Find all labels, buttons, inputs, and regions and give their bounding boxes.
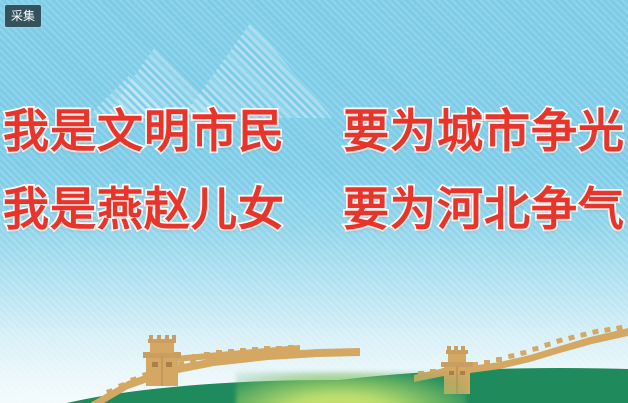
slogan-line-1-left: 我是文明市民 [3,104,285,158]
banner-screenshot: 我是文明市民 要为城市争光 我是燕赵儿女 要为河北争气 采集 [0,0,628,403]
great-wall-left-tower [143,335,181,386]
slogan-line-2-right: 要为河北争气 [343,182,625,236]
capture-button[interactable]: 采集 [4,4,42,28]
slogan-line-2-left: 我是燕赵儿女 [3,182,285,236]
slogan-line-1: 我是文明市民 要为城市争光 [0,108,628,154]
slogan-line-2: 我是燕赵儿女 要为河北争气 [0,186,628,232]
slogan-line-1-right: 要为城市争光 [343,104,625,158]
meadow-highlight [236,372,466,403]
